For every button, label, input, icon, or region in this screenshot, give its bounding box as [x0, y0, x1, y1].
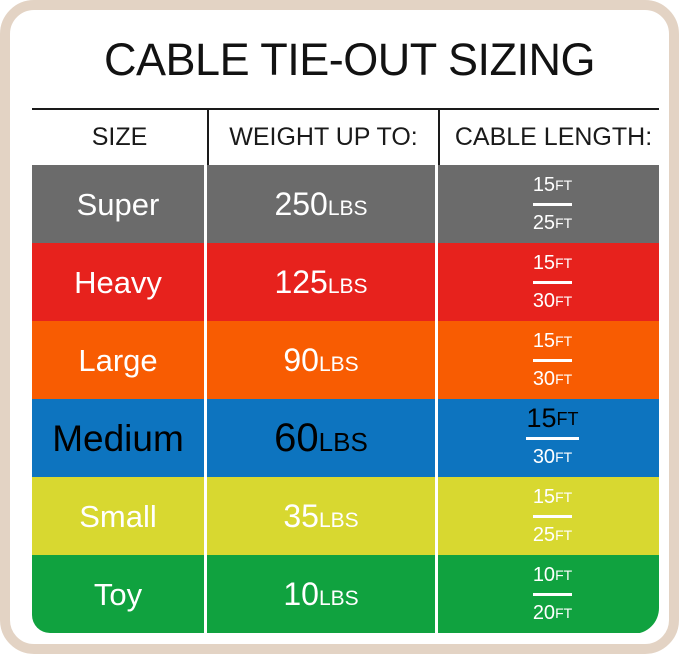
cell-cable-length: 15FT30FT — [438, 321, 659, 399]
weight-value: 125LBS — [274, 266, 367, 298]
column-header-cable: CABLE LENGTH: — [438, 110, 659, 165]
size-label: Medium — [52, 420, 184, 457]
cell-weight: 125LBS — [207, 243, 438, 321]
weight-value: 250LBS — [274, 188, 367, 220]
weight-unit: LBS — [319, 353, 359, 376]
cell-weight: 60LBS — [207, 399, 438, 477]
cable-length-option: 15FT — [533, 479, 572, 518]
page-title: CABLE TIE-OUT SIZING — [20, 34, 659, 86]
cell-weight: 10LBS — [207, 555, 438, 633]
weight-number: 90 — [283, 342, 319, 378]
weight-number: 125 — [274, 264, 327, 300]
weight-unit: LBS — [328, 275, 368, 298]
sizing-table: SIZE WEIGHT UP TO: CABLE LENGTH: Super25… — [32, 108, 659, 633]
weight-unit: LBS — [319, 509, 359, 532]
cable-length-number: 30 — [533, 369, 555, 389]
cell-size: Medium — [32, 399, 207, 477]
cell-cable-length: 15FT25FT — [438, 165, 659, 243]
weight-value: 35LBS — [283, 500, 358, 532]
cell-weight: 35LBS — [207, 477, 438, 555]
cell-size: Super — [32, 165, 207, 243]
table-body: Super250LBS15FT25FTHeavy125LBS15FT30FTLa… — [32, 165, 659, 633]
weight-number: 10 — [283, 576, 319, 612]
weight-value: 10LBS — [283, 578, 358, 610]
cell-weight: 250LBS — [207, 165, 438, 243]
cable-length-option: 20FT — [533, 596, 572, 632]
cable-length-unit: FT — [555, 372, 572, 386]
cell-size: Heavy — [32, 243, 207, 321]
cable-length-option: 15FT — [533, 245, 572, 284]
cable-length-option: 15FT — [533, 323, 572, 362]
cable-length-number: 20 — [533, 603, 555, 623]
cable-length-option: 30FT — [533, 362, 572, 398]
cable-length-unit: FT — [555, 256, 572, 270]
cell-weight: 90LBS — [207, 321, 438, 399]
cell-cable-length: 15FT25FT — [438, 477, 659, 555]
cable-length-option: 15FT — [526, 401, 578, 440]
cable-length-unit: FT — [555, 294, 572, 308]
table-row: Super250LBS15FT25FT — [32, 165, 659, 243]
cable-length-unit: FT — [557, 410, 579, 428]
weight-number: 60 — [274, 416, 319, 460]
cable-length-unit: FT — [555, 528, 572, 542]
size-label: Super — [77, 189, 160, 220]
cable-length-number: 15 — [526, 405, 556, 432]
cable-length-option: 30FT — [533, 440, 572, 476]
cable-length-unit: FT — [555, 216, 572, 230]
size-label: Toy — [94, 579, 142, 610]
cable-length-number: 15 — [533, 487, 555, 507]
cable-length-number: 15 — [533, 253, 555, 273]
cable-length-number: 30 — [533, 291, 555, 311]
cell-size: Large — [32, 321, 207, 399]
table-row: Heavy125LBS15FT30FT — [32, 243, 659, 321]
column-header-weight: WEIGHT UP TO: — [207, 110, 438, 165]
weight-value: 90LBS — [283, 344, 358, 376]
cable-length-number: 10 — [533, 565, 555, 585]
cable-length-option: 25FT — [533, 206, 572, 242]
cable-length-unit: FT — [555, 606, 572, 620]
cable-length-number: 15 — [533, 175, 555, 195]
table-row: Small35LBS15FT25FT — [32, 477, 659, 555]
cable-length-option: 30FT — [533, 284, 572, 320]
weight-unit: LBS — [319, 427, 368, 457]
cable-length-unit: FT — [555, 178, 572, 192]
cable-length-number: 25 — [533, 525, 555, 545]
table-row: Large90LBS15FT30FT — [32, 321, 659, 399]
weight-unit: LBS — [319, 587, 359, 610]
cable-length-option: 25FT — [533, 518, 572, 554]
cable-length-unit: FT — [555, 568, 572, 582]
weight-number: 35 — [283, 498, 319, 534]
cable-length-unit: FT — [555, 334, 572, 348]
cell-cable-length: 15FT30FT — [438, 399, 659, 477]
cell-cable-length: 10FT20FT — [438, 555, 659, 633]
table-header-row: SIZE WEIGHT UP TO: CABLE LENGTH: — [32, 110, 659, 165]
weight-value: 60LBS — [274, 418, 368, 458]
cable-length-option: 10FT — [533, 557, 572, 596]
sizing-chart-frame: CABLE TIE-OUT SIZING SIZE WEIGHT UP TO: … — [0, 0, 679, 654]
cell-size: Small — [32, 477, 207, 555]
cable-length-number: 15 — [533, 331, 555, 351]
cable-length-option: 15FT — [533, 167, 572, 206]
cable-length-number: 25 — [533, 213, 555, 233]
cell-size: Toy — [32, 555, 207, 633]
size-label: Large — [78, 345, 157, 376]
size-label: Small — [79, 501, 157, 532]
cell-cable-length: 15FT30FT — [438, 243, 659, 321]
column-header-size: SIZE — [32, 110, 207, 165]
cable-length-number: 30 — [533, 447, 555, 467]
sizing-chart-inner: CABLE TIE-OUT SIZING SIZE WEIGHT UP TO: … — [20, 20, 659, 634]
table-row: Toy10LBS10FT20FT — [32, 555, 659, 633]
weight-number: 250 — [274, 186, 327, 222]
size-label: Heavy — [74, 267, 162, 298]
cable-length-unit: FT — [555, 490, 572, 504]
weight-unit: LBS — [328, 197, 368, 220]
table-row: Medium60LBS15FT30FT — [32, 399, 659, 477]
cable-length-unit: FT — [555, 450, 572, 464]
